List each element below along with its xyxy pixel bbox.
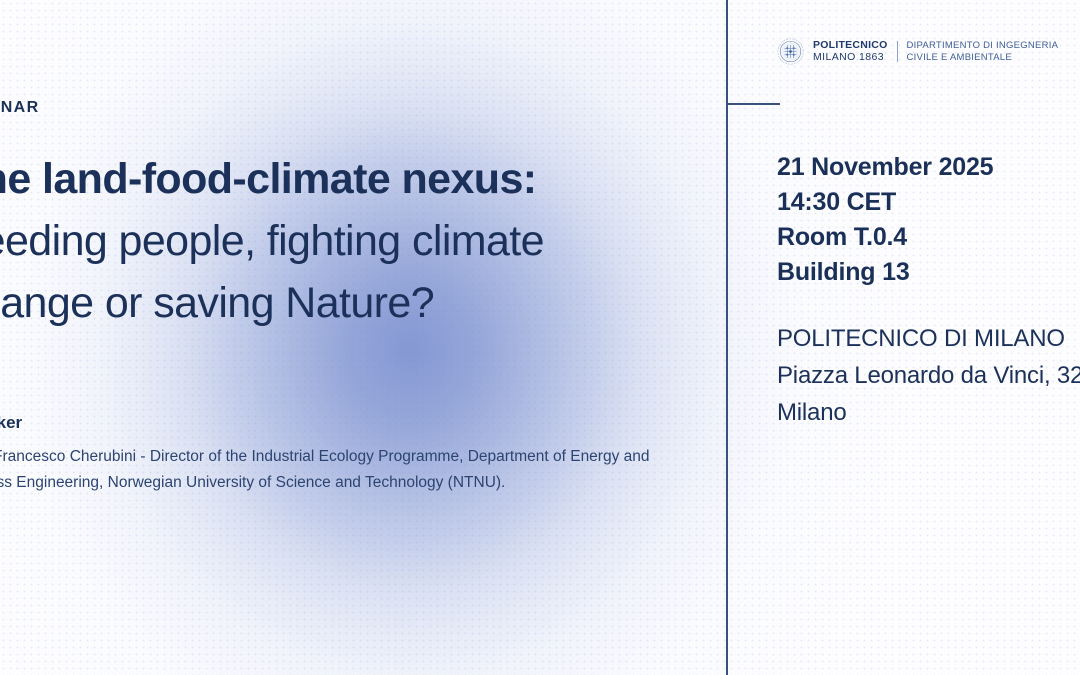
event-type-kicker: SEMINAR (0, 99, 40, 117)
title-line-2: Feeding people, fighting climate (0, 210, 736, 272)
seminar-title: The land-food-climate nexus: Feeding peo… (0, 148, 736, 334)
speaker-line-1: Prof. Francesco Cherubini - Director of … (0, 444, 711, 470)
logo-separator-bar (897, 41, 898, 62)
event-time: 14:30 CET (777, 185, 993, 220)
department-name: DIPARTIMENTO DI INGEGNERIA CIVILE E AMBI… (907, 40, 1059, 63)
address-street: Piazza Leonardo da Vinci, 32 (777, 357, 1080, 394)
left-column: SEMINAR The land-food-climate nexus: Fee… (0, 0, 716, 675)
title-line-3: change or saving Nature? (0, 272, 736, 334)
department-line-1: DIPARTIMENTO DI INGEGNERIA (907, 40, 1059, 52)
wordmark-line-2: MILANO 1863 (813, 52, 888, 64)
department-line-2: CIVILE E AMBIENTALE (907, 52, 1059, 64)
wordmark-line-1: POLITECNICO (813, 40, 888, 52)
event-address-block: POLITECNICO DI MILANO Piazza Leonardo da… (777, 320, 1080, 431)
event-room: Room T.0.4 (777, 220, 993, 255)
politecnico-logo-lockup: POLITECNICO MILANO 1863 DIPARTIMENTO DI … (777, 38, 1058, 65)
event-building: Building 13 (777, 255, 993, 290)
event-date: 21 November 2025 (777, 150, 993, 185)
address-city: Milano (777, 394, 1080, 431)
speaker-line-2: Process Engineering, Norwegian Universit… (0, 470, 711, 496)
politecnico-crest-icon (777, 38, 804, 65)
address-institution: POLITECNICO DI MILANO (777, 320, 1080, 357)
right-column: POLITECNICO MILANO 1863 DIPARTIMENTO DI … (726, 0, 1080, 675)
speaker-heading: Speaker (0, 413, 22, 433)
politecnico-wordmark: POLITECNICO MILANO 1863 (813, 40, 888, 63)
event-datetime-block: 21 November 2025 14:30 CET Room T.0.4 Bu… (777, 150, 993, 290)
title-line-1: The land-food-climate nexus: (0, 148, 736, 210)
speaker-details: Prof. Francesco Cherubini - Director of … (0, 444, 711, 496)
seminar-poster: SEMINAR The land-food-climate nexus: Fee… (0, 0, 1080, 675)
